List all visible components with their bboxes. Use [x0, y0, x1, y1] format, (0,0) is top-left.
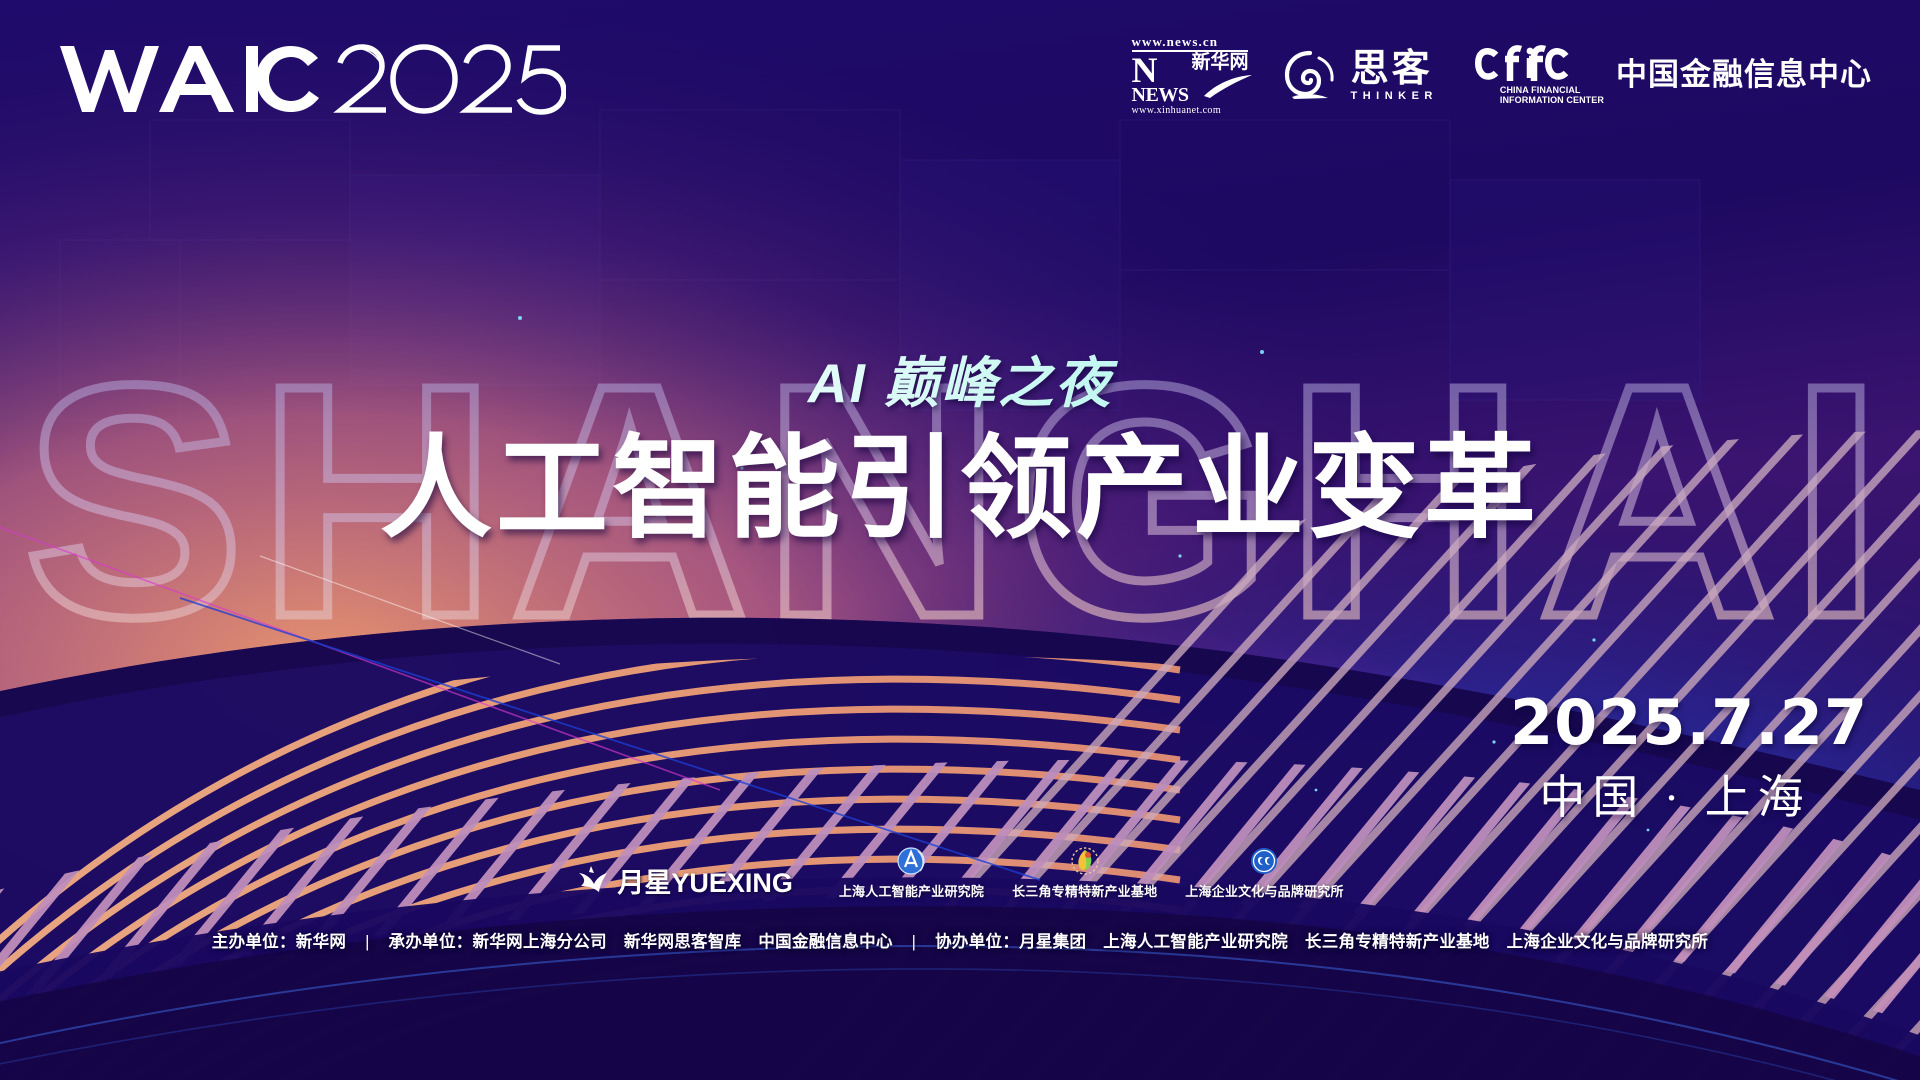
xinhua-en-name: NEWS [1132, 87, 1189, 104]
sponsor-yuexing[interactable]: 月星YUEXING [576, 861, 793, 900]
sponsor-label: 上海企业文化与品牌研究所 [1185, 881, 1343, 900]
xinhua-url-top: www.news.cn [1132, 35, 1219, 49]
event-headline: 人工智能引领产业变革 [0, 428, 1920, 550]
sponsor-label: 月星YUEXING [617, 861, 793, 900]
credits-organizer-1: 新华网思客智库 [624, 933, 742, 951]
credits-organizer-0: 新华网上海分公司 [473, 933, 607, 951]
event-date: 2025.7.27 [1510, 690, 1840, 756]
xinhua-n-mark: N [1132, 53, 1189, 87]
cfic-wordmark-icon [1474, 45, 1570, 83]
sponsor-yangtze-delta-base[interactable]: 长三角专精特新产业基地 [1012, 845, 1157, 900]
cfic-cn-name: 中国金融信息中心 [1616, 58, 1872, 92]
thinker-cn-name: 思客 [1351, 49, 1433, 89]
yuexing-bird-icon [576, 864, 610, 898]
sponsor-logo-row: 月星YUEXING 上海人工智能产业研究院 长三角专精特新产业基地 [0, 845, 1920, 900]
cfic-en-line1: CHINA FINANCIAL [1500, 85, 1604, 96]
cfic-en-line2: INFORMATION CENTER [1500, 95, 1604, 106]
ai-globe-icon [894, 845, 928, 879]
credits-coorganizer-3: 上海企业文化与品牌研究所 [1507, 933, 1709, 951]
credits-coorganizer-0: 月星集团 [1019, 933, 1086, 951]
sponsor-shanghai-ai-institute[interactable]: 上海人工智能产业研究院 [839, 845, 984, 900]
credits-organizer-label: 承办单位： [389, 933, 473, 951]
credits-organizer-2: 中国金融信息中心 [758, 933, 892, 951]
event-subtitle: AI 巅峰之夜 [0, 338, 1920, 418]
credits-separator-1: | [351, 933, 384, 951]
partner-logo-cfic[interactable]: CHINA FINANCIAL INFORMATION CENTER 中国金融信… [1474, 40, 1872, 110]
xinhua-swoosh-icon [1202, 72, 1254, 98]
credits-host: 主办单位：新华网 [212, 933, 346, 951]
sponsor-label: 上海人工智能产业研究院 [839, 881, 984, 900]
date-location-block: 2025.7.27 中国 · 上海 [1510, 690, 1840, 824]
sponsor-shanghai-brand-institute[interactable]: 上海企业文化与品牌研究所 [1185, 845, 1343, 900]
credits-separator-2: | [898, 933, 931, 951]
brand-seal-icon [1247, 845, 1281, 879]
event-location: 中国 · 上海 [1510, 772, 1840, 824]
credits-coorganizer-2: 长三角专精特新产业基地 [1305, 933, 1490, 951]
partner-logo-xinhuanet[interactable]: www.news.cn N NEWS 新华网 www.xinhuanet.com [1132, 40, 1249, 110]
partner-logo-thinker[interactable]: 思客 THINKER [1284, 40, 1437, 110]
waic-2025-logo [56, 36, 566, 116]
partner-logo-bar: www.news.cn N NEWS 新华网 www.xinhuanet.com [1132, 38, 1872, 112]
cfic-en-name: CHINA FINANCIAL INFORMATION CENTER [1474, 85, 1604, 106]
sponsor-label: 长三角专精特新产业基地 [1012, 881, 1157, 900]
thinker-spiral-icon [1284, 49, 1336, 101]
thinker-en-name: THINKER [1345, 90, 1437, 102]
xinhua-url-bottom: www.xinhuanet.com [1132, 105, 1221, 116]
xinhua-cn-name: 新华网 [1191, 53, 1248, 73]
credits-coorganizer-1: 上海人工智能产业研究院 [1103, 933, 1288, 951]
credits-coorganizer-label: 协办单位： [935, 933, 1019, 951]
poster-canvas: SHANGHAI [0, 0, 1920, 1080]
delta-circle-icon [1068, 845, 1102, 879]
credits-line: 主办单位：新华网 | 承办单位：新华网上海分公司 新华网思客智库 中国金融信息中… [0, 928, 1920, 952]
